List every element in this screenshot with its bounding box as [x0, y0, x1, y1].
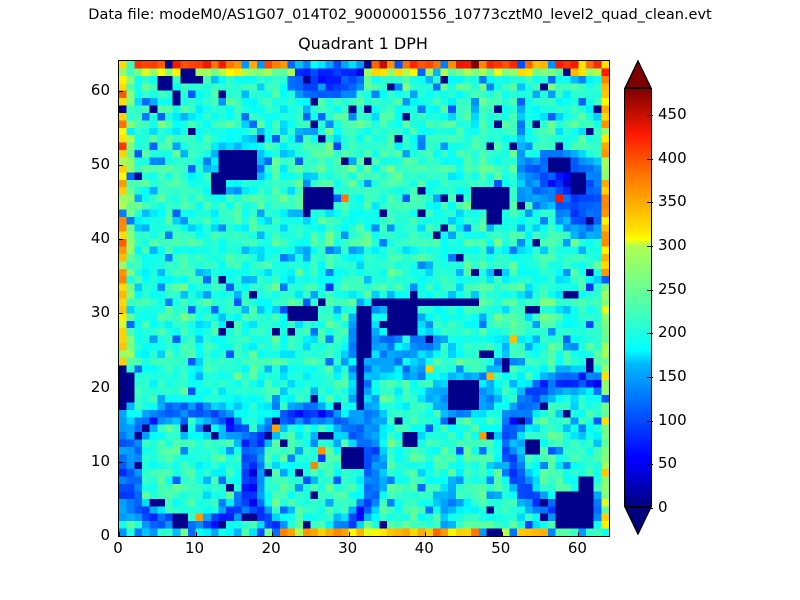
x-tick-label: 30 [338, 539, 357, 557]
x-tick-mark [196, 532, 197, 536]
colorbar-gradient-body[interactable] [624, 88, 652, 507]
colorbar-tick-label: 350 [658, 192, 687, 210]
y-tick-mark [119, 388, 123, 389]
y-tick-mark [119, 165, 123, 166]
colorbar-tick-mark [647, 333, 653, 334]
y-tick-label: 40 [70, 229, 110, 247]
x-tick-mark [578, 532, 579, 536]
colorbar-tick-mark [647, 377, 653, 378]
colorbar-tick-label: 450 [658, 105, 687, 123]
y-tick-mark [119, 462, 123, 463]
colorbar-tick-mark [647, 421, 653, 422]
x-tick-label: 20 [262, 539, 281, 557]
heatmap-axes[interactable] [118, 60, 610, 537]
colorbar-tick-mark [647, 464, 653, 465]
y-tick-label: 60 [70, 81, 110, 99]
figure-canvas: Data file: modeM0/AS1G07_014T02_90000015… [0, 0, 800, 600]
x-tick-mark [425, 532, 426, 536]
x-tick-mark [502, 532, 503, 536]
x-tick-label: 40 [415, 539, 434, 557]
y-tick-label: 20 [70, 378, 110, 396]
colorbar[interactable]: 050100150200250300350400450 [624, 60, 652, 535]
x-tick-mark [272, 532, 273, 536]
colorbar-tick-label: 200 [658, 323, 687, 341]
x-tick-label: 0 [113, 539, 123, 557]
detector-pixel-heatmap[interactable] [119, 61, 609, 536]
y-tick-mark [119, 313, 123, 314]
x-tick-mark [349, 532, 350, 536]
y-tick-label: 10 [70, 452, 110, 470]
y-tick-mark [119, 91, 123, 92]
colorbar-tick-mark [647, 246, 653, 247]
y-tick-mark [119, 536, 123, 537]
colorbar-tick-label: 100 [658, 411, 687, 429]
colorbar-extend-low-arrow [624, 506, 652, 535]
colorbar-tick-mark [647, 202, 653, 203]
colorbar-tick-label: 150 [658, 367, 687, 385]
x-tick-label: 60 [568, 539, 587, 557]
x-tick-label: 50 [491, 539, 510, 557]
y-tick-label: 30 [70, 303, 110, 321]
colorbar-tick-label: 250 [658, 280, 687, 298]
colorbar-gradient [625, 89, 651, 506]
x-tick-label: 10 [185, 539, 204, 557]
colorbar-tick-label: 400 [658, 149, 687, 167]
colorbar-tick-label: 0 [658, 498, 668, 516]
colorbar-tick-mark [647, 159, 653, 160]
colorbar-tick-label: 300 [658, 236, 687, 254]
y-tick-label: 50 [70, 155, 110, 173]
colorbar-tick-mark [647, 115, 653, 116]
colorbar-tick-mark [647, 290, 653, 291]
y-tick-mark [119, 239, 123, 240]
y-tick-label: 0 [70, 526, 110, 544]
colorbar-extend-high-arrow [624, 60, 652, 89]
page-title: Quadrant 1 DPH [118, 34, 608, 53]
data-file-label: Data file: modeM0/AS1G07_014T02_90000015… [0, 7, 800, 23]
colorbar-tick-label: 50 [658, 454, 677, 472]
